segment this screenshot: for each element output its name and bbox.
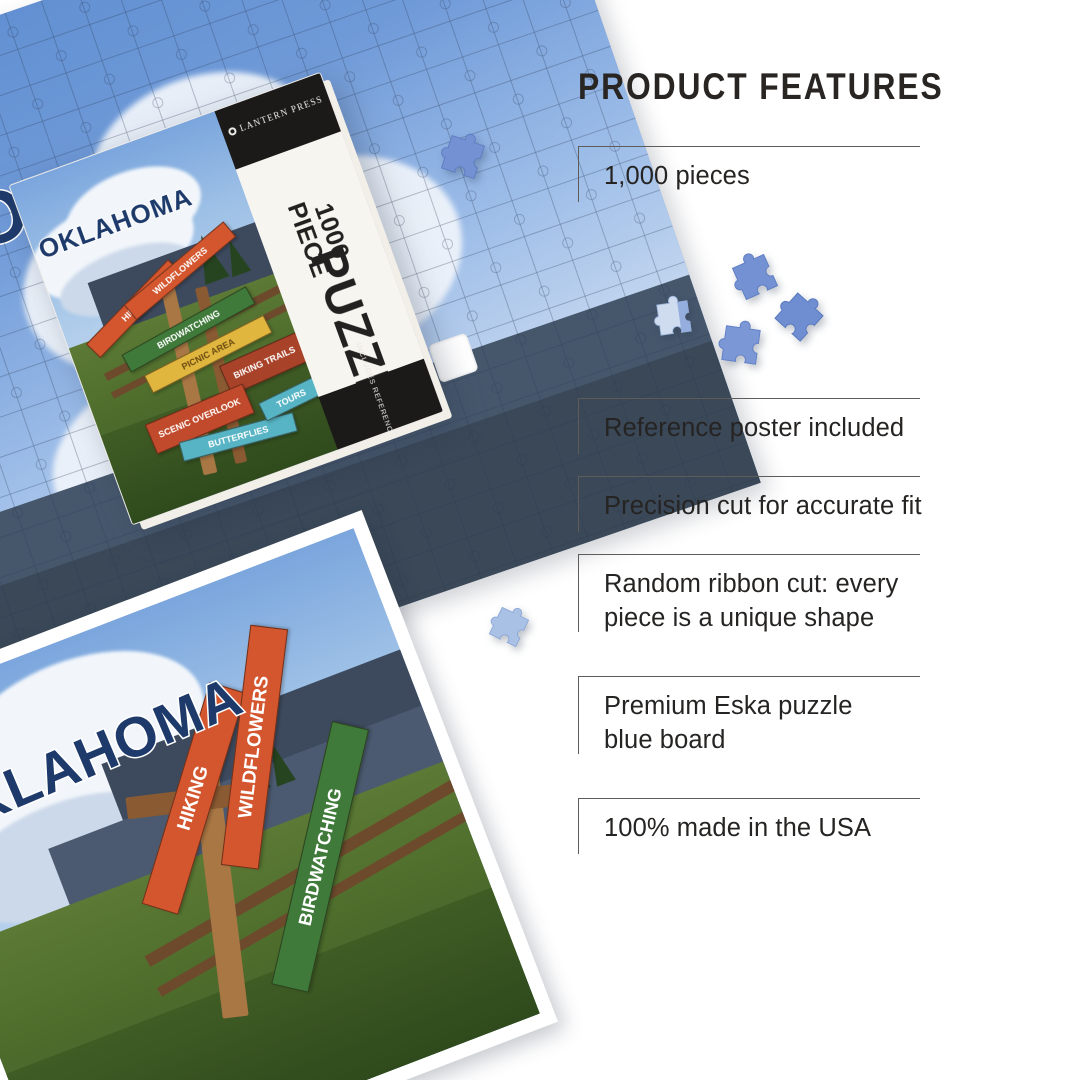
puzzle-knob <box>632 211 646 225</box>
puzzle-knob <box>30 97 44 111</box>
puzzle-knob <box>32 337 46 351</box>
puzzle-knob <box>466 429 480 443</box>
puzzle-knob <box>107 553 121 567</box>
puzzle-knob <box>197 0 211 13</box>
puzzle-knob <box>317 0 331 12</box>
feature-divider <box>578 398 920 399</box>
feature-tick-mark <box>578 554 579 632</box>
puzzle-knob <box>8 265 22 279</box>
feature-tick-mark <box>578 398 579 454</box>
puzzle-knob <box>11 626 25 640</box>
puzzle-knob <box>608 259 622 273</box>
puzzle-knob <box>77 0 91 14</box>
feature-label: 1,000 pieces <box>604 160 1004 194</box>
feature-divider <box>578 476 920 477</box>
feature-tick-mark <box>578 476 579 532</box>
puzzle-knob <box>394 454 408 468</box>
puzzle-knob <box>10 505 24 519</box>
feature-tick-mark <box>578 798 579 854</box>
puzzle-knob <box>486 20 500 34</box>
puzzle-knob <box>562 476 576 490</box>
puzzle-knob <box>414 45 428 59</box>
puzzle-knob <box>440 237 454 251</box>
puzzle-knob <box>539 524 553 538</box>
puzzle-knob <box>538 404 552 418</box>
puzzle-knob <box>681 355 695 369</box>
puzzle-knob <box>78 120 92 134</box>
puzzle-knob <box>488 260 502 274</box>
puzzle-knob <box>246 22 260 36</box>
loose-puzzle-piece <box>712 316 770 379</box>
puzzle-knob <box>438 0 452 10</box>
puzzle-knob <box>585 307 599 321</box>
puzzle-knob <box>489 381 503 395</box>
puzzle-knob <box>342 70 356 84</box>
product-feature-graphic: OK HIKING WI <box>0 0 1080 1080</box>
feature-divider <box>578 676 920 677</box>
feature-label: 100% made in the USA <box>604 812 1004 846</box>
puzzle-knob <box>558 0 572 9</box>
puzzle-knob <box>150 95 164 109</box>
puzzle-knob <box>559 115 573 129</box>
feature-label: Reference poster included <box>604 412 1004 446</box>
loose-puzzle-piece <box>770 288 828 351</box>
puzzle-knob <box>465 309 479 323</box>
feature-label: Precision cut for accurate fit <box>604 490 1004 524</box>
puzzle-knob <box>462 68 476 82</box>
feature-divider <box>578 798 920 799</box>
puzzle-knob <box>514 452 528 466</box>
puzzle-knob <box>370 502 384 516</box>
puzzle-knob <box>513 332 527 346</box>
page-title: PRODUCT FEATURES <box>578 68 939 105</box>
puzzle-knob <box>535 164 549 178</box>
puzzle-knob <box>634 451 648 465</box>
puzzle-knob <box>511 92 525 106</box>
puzzle-knob <box>415 165 429 179</box>
puzzle-knob <box>5 25 19 39</box>
puzzle-knob <box>392 213 406 227</box>
puzzle-knob <box>250 503 264 517</box>
puzzle-knob <box>491 501 505 515</box>
feature-tick-mark <box>578 146 579 202</box>
puzzle-knob <box>561 356 575 370</box>
puzzle-knob <box>322 478 336 492</box>
feature-label: Random ribbon cut: every piece is a uniq… <box>604 568 1004 636</box>
puzzle-knob <box>82 481 96 495</box>
feature-divider <box>578 146 920 147</box>
puzzle-knob <box>395 574 409 588</box>
puzzle-knob <box>467 549 481 563</box>
puzzle-knob <box>560 236 574 250</box>
puzzle-knob <box>534 44 548 58</box>
loose-puzzle-piece <box>484 602 534 657</box>
puzzle-knob <box>34 457 48 471</box>
feature-tick-mark <box>578 676 579 754</box>
puzzle-knob <box>57 409 71 423</box>
puzzle-knob <box>6 145 20 159</box>
puzzle-knob <box>586 428 600 442</box>
puzzle-knob <box>222 71 236 85</box>
puzzle-knob <box>9 385 23 399</box>
product-features-panel: PRODUCT FEATURES 1,000 piecesReference p… <box>578 68 998 105</box>
puzzle-knob <box>419 525 433 539</box>
puzzle-knob <box>58 529 72 543</box>
puzzle-knob <box>633 331 647 345</box>
puzzle-knob <box>537 284 551 298</box>
puzzle-knob <box>366 21 380 35</box>
puzzle-knob <box>54 48 68 62</box>
puzzle-knob <box>125 24 139 38</box>
puzzle-knob <box>416 285 430 299</box>
puzzle-knob <box>102 72 116 86</box>
puzzle-knob <box>367 141 381 155</box>
loose-puzzle-piece <box>648 292 700 349</box>
puzzle-knob <box>178 528 192 542</box>
loose-puzzle-piece <box>434 128 492 191</box>
puzzle-knob <box>294 46 308 60</box>
feature-divider <box>578 554 920 555</box>
puzzle-knob <box>390 93 404 107</box>
puzzle-knob <box>174 47 188 61</box>
puzzle-knob <box>35 577 49 591</box>
puzzle-knob <box>512 212 526 226</box>
puzzle-knob <box>584 187 598 201</box>
puzzle-knob <box>610 379 624 393</box>
puzzle-knob <box>442 477 456 491</box>
feature-label: Premium Eska puzzle blue board <box>604 690 1004 758</box>
